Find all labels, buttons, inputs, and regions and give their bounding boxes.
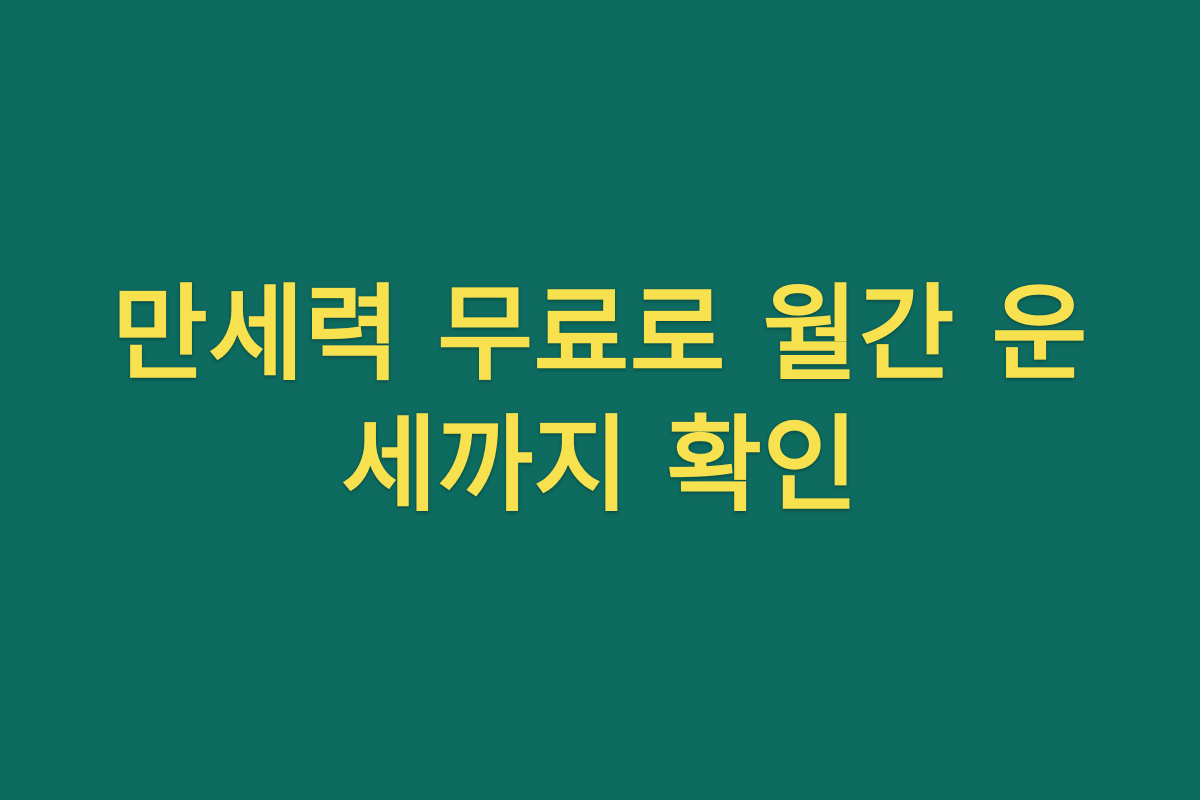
headline-text: 만세력 무료로 월간 운 세까지 확인 — [0, 269, 1200, 531]
banner-background: 만세력 무료로 월간 운 세까지 확인 — [0, 0, 1200, 800]
headline-line-1: 만세력 무료로 월간 운 — [60, 269, 1140, 400]
headline-line-2: 세까지 확인 — [60, 400, 1140, 531]
